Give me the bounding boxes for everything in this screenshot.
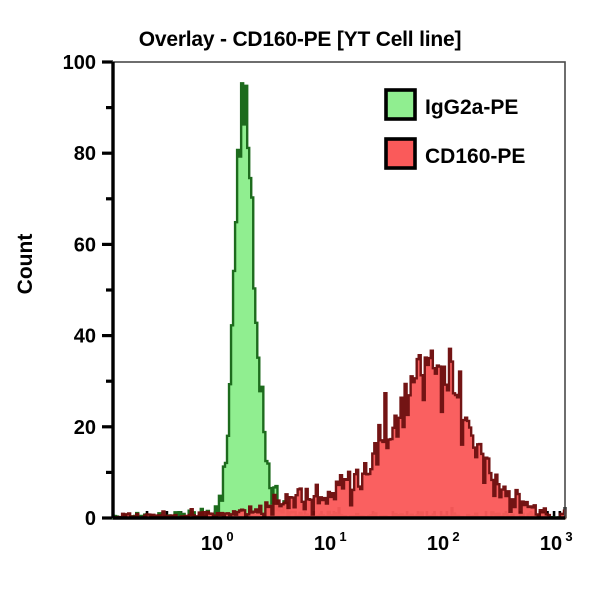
flow-cytometry-chart: Overlay - CD160-PE [YT Cell line] Count … [0,0,600,600]
y-tick-label: 0 [85,508,96,530]
svg-text:2: 2 [452,529,459,544]
y-tick-label: 100 [63,52,96,74]
plot-area: 020406080100 100101102103 IgG2a-PECD160-… [0,0,600,600]
x-tick-label: 102 [427,529,460,555]
x-tick-label: 103 [540,529,573,555]
y-tick-label: 80 [74,143,96,165]
svg-text:10: 10 [427,533,449,555]
svg-text:0: 0 [226,529,233,544]
legend-label: CD160-PE [425,145,525,168]
svg-text:10: 10 [540,533,562,555]
svg-text:10: 10 [314,533,336,555]
legend-label: IgG2a-PE [425,96,518,119]
y-axis-ticks: 020406080100 [63,52,113,530]
y-tick-label: 40 [74,326,96,348]
series-cd160-pe [113,349,565,518]
x-tick-label: 101 [314,529,347,555]
svg-text:1: 1 [339,529,346,544]
svg-text:10: 10 [201,533,223,555]
legend-swatch [386,139,415,168]
x-tick-label: 100 [201,529,234,555]
y-tick-label: 60 [74,234,96,256]
svg-text:3: 3 [565,529,572,544]
legend-swatch [386,90,415,119]
legend: IgG2a-PECD160-PE [375,81,553,168]
y-tick-label: 20 [74,417,96,439]
